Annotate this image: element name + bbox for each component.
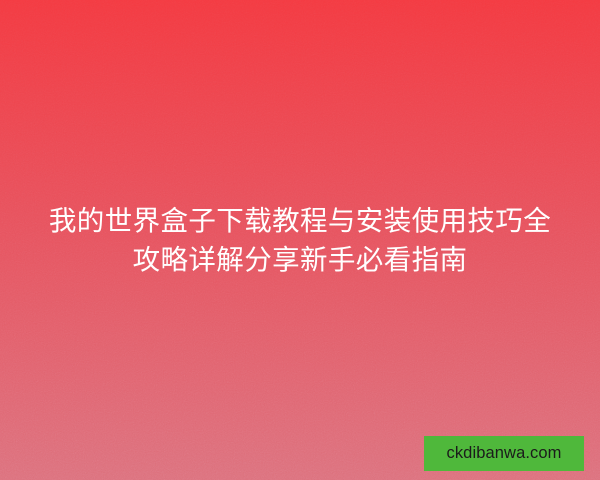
watermark-domain-text: ckdibanwa.com (446, 445, 561, 462)
banner-title: 我的世界盒子下载教程与安装使用技巧全 攻略详解分享新手必看指南 (0, 202, 600, 280)
banner-title-line-2: 攻略详解分享新手必看指南 (14, 241, 586, 280)
promo-banner: 我的世界盒子下载教程与安装使用技巧全 攻略详解分享新手必看指南 ckdibanw… (0, 0, 600, 480)
banner-title-line-1: 我的世界盒子下载教程与安装使用技巧全 (14, 202, 586, 241)
watermark-badge: ckdibanwa.com (424, 436, 584, 471)
